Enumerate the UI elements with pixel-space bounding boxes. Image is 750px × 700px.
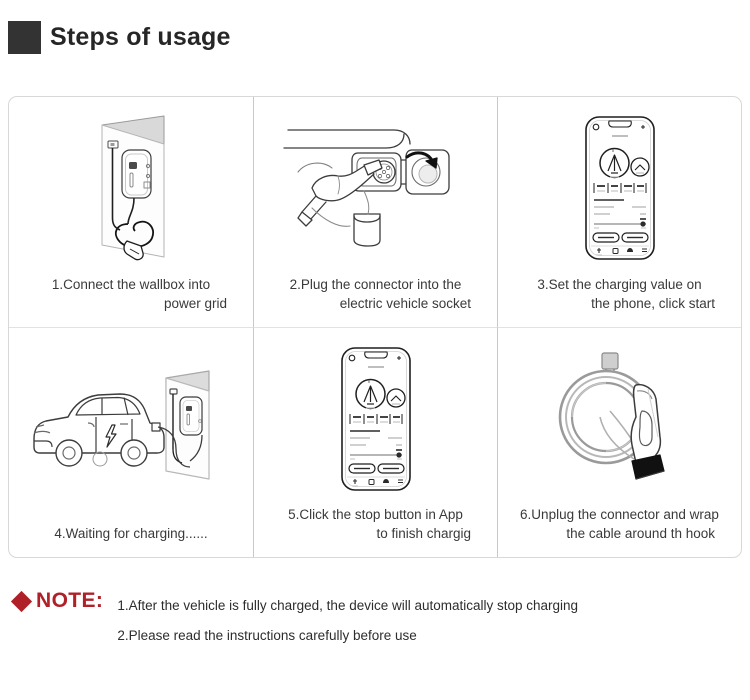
steps-card: 1.Connect the wallbox into power grid xyxy=(8,96,742,558)
step-cell-6: 6.Unplug the connector and wrap the cabl… xyxy=(497,327,741,557)
step-cell-2: 2.Plug the connector into the electric v… xyxy=(253,97,497,327)
page-header: Steps of usage xyxy=(0,14,750,60)
step-4-illustration xyxy=(9,328,253,524)
step-5-illustration xyxy=(254,328,497,505)
note-line-1: 1.After the vehicle is fully charged, th… xyxy=(117,591,578,621)
steps-grid: 1.Connect the wallbox into power grid xyxy=(9,97,741,557)
step-2-caption-line2: electric vehicle socket xyxy=(270,294,481,313)
step-cell-1: 1.Connect the wallbox into power grid xyxy=(9,97,253,327)
step-5-caption: 5.Click the stop button in App to finish… xyxy=(254,505,497,557)
step-cell-4: 4.Waiting for charging...... xyxy=(9,327,253,557)
solid-square-bullet-icon xyxy=(8,21,41,54)
step-5-caption-line1: 5.Click the stop button in App xyxy=(270,505,481,524)
step-1-caption: 1.Connect the wallbox into power grid xyxy=(9,275,253,327)
step-3-caption-line2: the phone, click start xyxy=(514,294,725,313)
step-6-caption-line1: 6.Unplug the connector and wrap xyxy=(514,505,725,524)
step-4-caption-line1: 4.Waiting for charging...... xyxy=(25,524,237,543)
note-line-2: 2.Please read the instructions carefully… xyxy=(117,621,578,651)
step-1-caption-line1: 1.Connect the wallbox into xyxy=(25,275,237,294)
step-3-illustration xyxy=(498,97,741,275)
note-section: NOTE: 1.After the vehicle is fully charg… xyxy=(0,588,750,651)
step-1-illustration xyxy=(9,97,253,275)
step-6-caption: 6.Unplug the connector and wrap the cabl… xyxy=(498,505,741,557)
step-3-caption: 3.Set the charging value on the phone, c… xyxy=(498,275,741,327)
step-cell-5: 5.Click the stop button in App to finish… xyxy=(253,327,497,557)
step-4-caption: 4.Waiting for charging...... xyxy=(9,524,253,557)
step-2-caption: 2.Plug the connector into the electric v… xyxy=(254,275,497,327)
step-5-caption-line2: to finish chargig xyxy=(270,524,481,543)
step-2-caption-line1: 2.Plug the connector into the xyxy=(270,275,481,294)
note-lines: 1.After the vehicle is fully charged, th… xyxy=(117,588,578,651)
step-2-illustration xyxy=(254,97,497,275)
diamond-bullet-icon xyxy=(11,591,32,612)
step-cell-3: 3.Set the charging value on the phone, c… xyxy=(497,97,741,327)
step-6-illustration xyxy=(498,328,741,505)
step-1-caption-line2: power grid xyxy=(25,294,237,313)
page-title: Steps of usage xyxy=(50,23,231,52)
step-6-caption-line2: the cable around th hook xyxy=(514,524,725,543)
note-label: NOTE: xyxy=(36,588,103,614)
step-3-caption-line1: 3.Set the charging value on xyxy=(514,275,725,294)
